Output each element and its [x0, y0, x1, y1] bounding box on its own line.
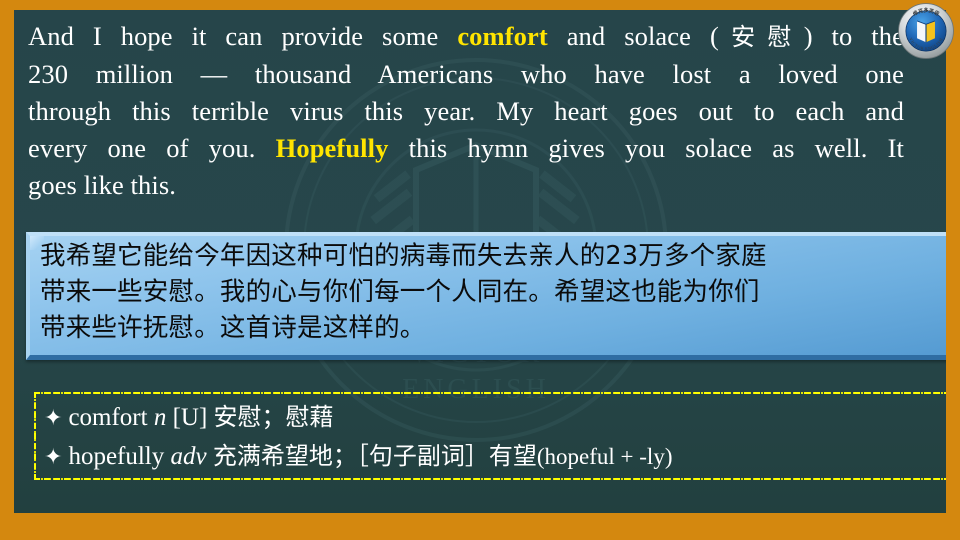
highlight-hopefully: Hopefully: [276, 133, 389, 163]
english-line-1: And I hope it can provide some comfort a…: [28, 18, 904, 56]
english-line-4-pre: every one of you.: [28, 133, 276, 163]
slide-root: VICTOR ENGLISH And I hope it can provide…: [0, 0, 960, 540]
english-line-4-post: this hymn gives you solace as well. It: [388, 133, 904, 163]
english-passage: And I hope it can provide some comfort a…: [28, 18, 904, 204]
english-line-1-pre: And I hope it can provide some: [28, 21, 457, 51]
vocab-word-hopefully: hopefully: [68, 443, 164, 470]
translation-line-1: 我希望它能给今年因这种可怕的病毒而失去亲人的23万多个家庭: [40, 238, 936, 274]
vocab-meaning-comfort: 安慰；慰藉: [214, 403, 334, 431]
bullet-diamond-icon: ✦: [44, 444, 68, 469]
translation-text: 我希望它能给今年因这种可怕的病毒而失去亲人的23万多个家庭 带来一些安慰。我的心…: [40, 238, 936, 346]
vocab-pos-comfort: n: [154, 404, 167, 431]
english-line-1-mid-a: and solace (: [548, 21, 719, 51]
english-line-4: every one of you. Hopefully this hymn gi…: [28, 130, 904, 167]
translation-line-2: 带来一些安慰。我的心与你们每一个人同在。希望这也能为你们: [40, 274, 936, 310]
english-line-5: goes like this.: [28, 167, 904, 204]
victor-english-logo-icon: 维克多英语 VICTOR ENGLISH: [898, 3, 954, 59]
translation-line-3: 带来些许抚慰。这首诗是这样的。: [40, 310, 936, 346]
vocabulary-entry-comfort: ✦comfort n [U] 安慰；慰藉: [44, 398, 946, 437]
highlight-comfort: comfort: [457, 21, 547, 51]
vocab-etymology-hopefully: (hopeful + -ly): [537, 444, 673, 469]
vocab-meaning-hopefully: 充满希望地；［句子副词］有望: [213, 442, 537, 470]
english-line-2: 230 million — thousand Americans who hav…: [28, 56, 904, 93]
vocabulary-notes-box: ✦comfort n [U] 安慰；慰藉 ✦hopefully adv 充满希望…: [34, 392, 946, 480]
english-line-3: through this terrible virus this year. M…: [28, 93, 904, 130]
vocab-word-comfort: comfort: [68, 404, 147, 431]
bullet-diamond-icon: ✦: [44, 405, 68, 430]
vocab-pos-hopefully: adv: [171, 443, 207, 470]
translation-box: 我希望它能给今年因这种可怕的病毒而失去亲人的23万多个家庭 带来一些安慰。我的心…: [26, 232, 946, 360]
english-line-1-mid-b: ) to the: [804, 21, 904, 51]
vocabulary-entry-hopefully: ✦hopefully adv 充满希望地；［句子副词］有望(hopeful + …: [44, 437, 946, 476]
slide-content-panel: VICTOR ENGLISH And I hope it can provide…: [14, 10, 946, 513]
gloss-anwei: 安慰: [719, 23, 804, 51]
vocab-countability-comfort: [U]: [173, 404, 208, 431]
